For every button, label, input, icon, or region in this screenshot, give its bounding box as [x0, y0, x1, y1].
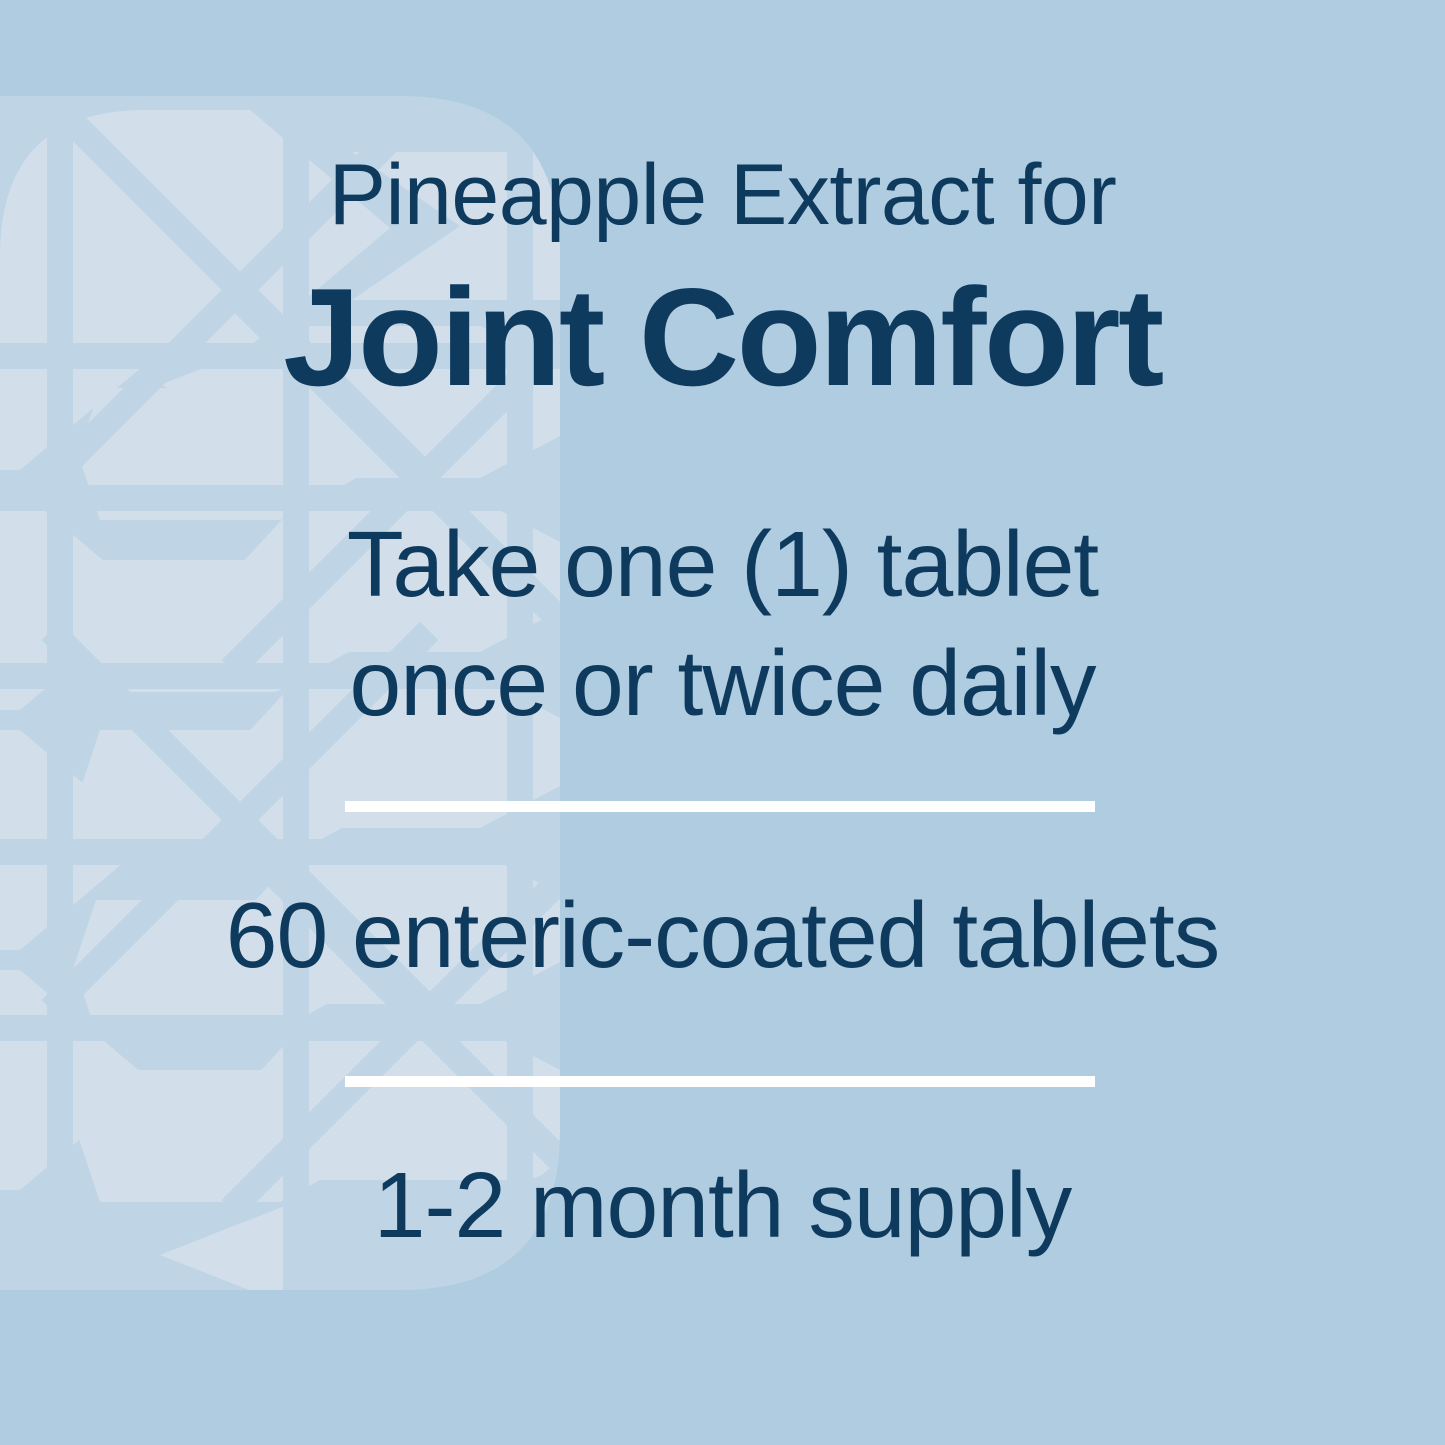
tablet-count-text: 60 enteric-coated tablets	[0, 882, 1445, 989]
dosage-line-2: once or twice daily	[0, 624, 1445, 743]
divider-above-count	[345, 801, 1095, 812]
dosage-line-1: Take one (1) tablet	[0, 505, 1445, 624]
supply-duration-text: 1-2 month supply	[0, 1152, 1445, 1259]
eyebrow-text: Pineapple Extract for	[0, 152, 1445, 238]
divider-below-count	[345, 1076, 1095, 1087]
card-content: Pineapple Extract for Joint Comfort Take…	[0, 0, 1445, 1445]
dosage-instruction: Take one (1) tablet once or twice daily	[0, 505, 1445, 743]
page-title: Joint Comfort	[0, 268, 1445, 407]
product-info-card: Pineapple Extract for Joint Comfort Take…	[0, 0, 1445, 1445]
